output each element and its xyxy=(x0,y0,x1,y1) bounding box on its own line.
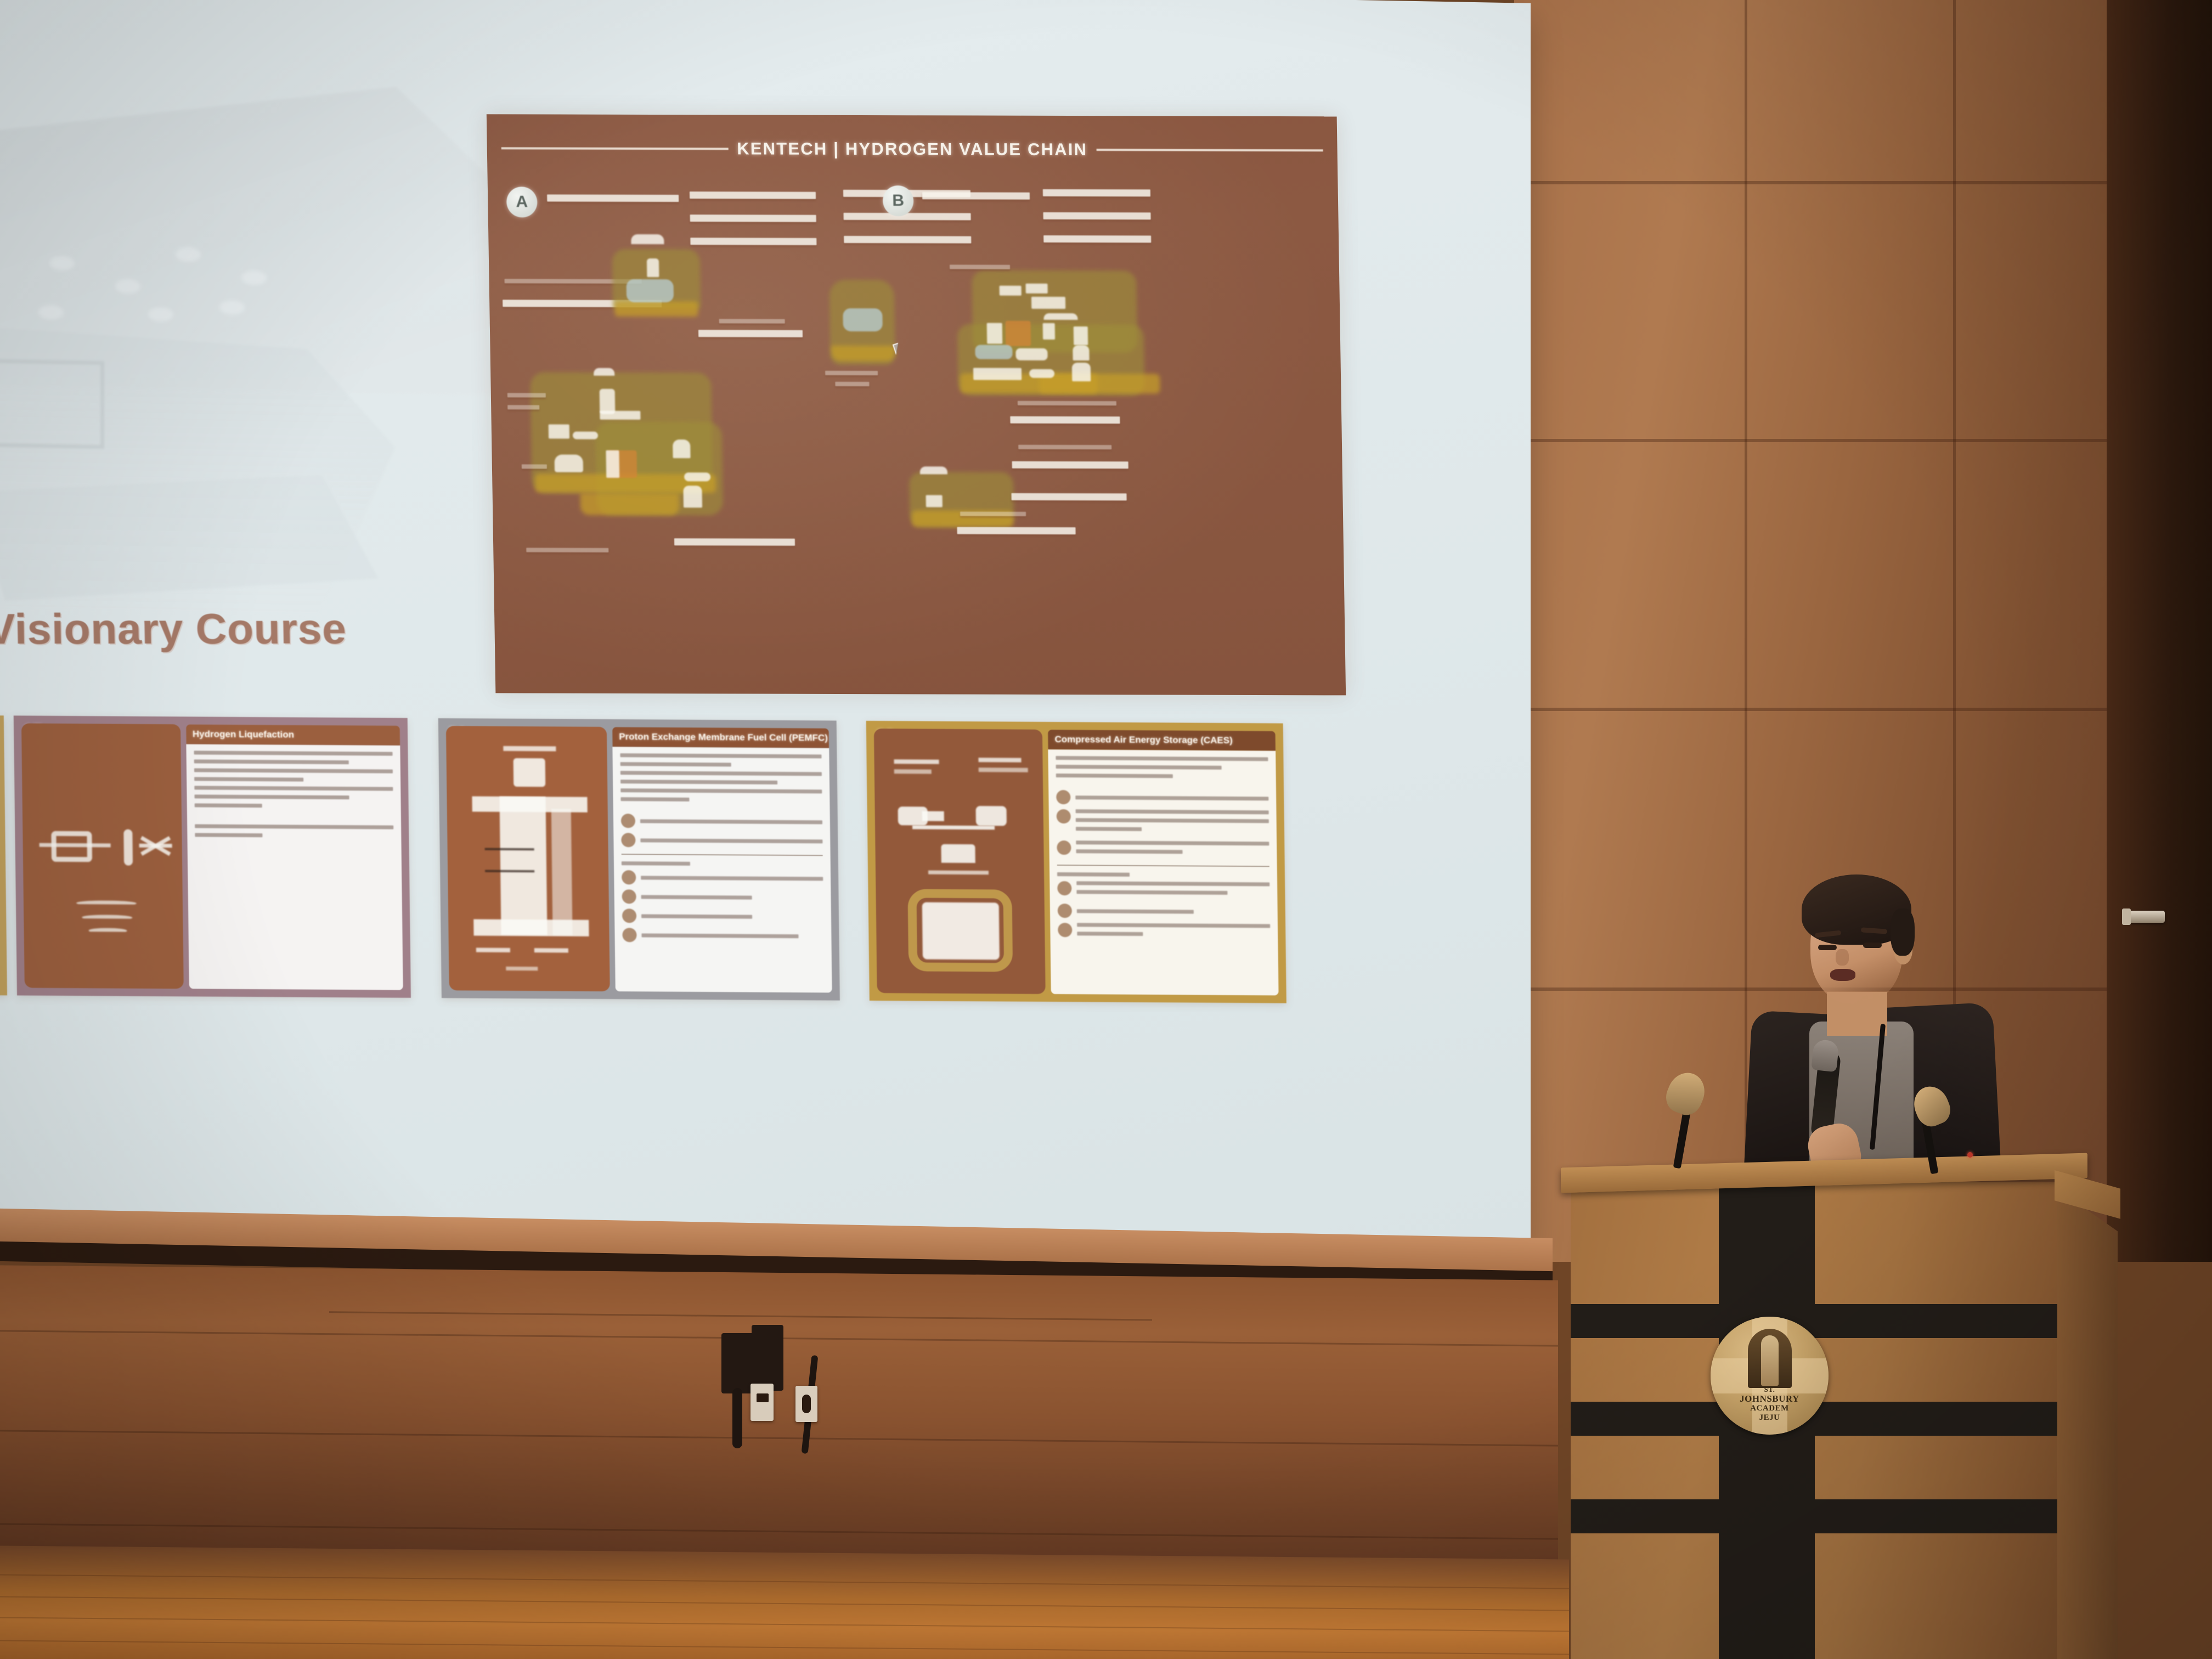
bullet-icon xyxy=(1058,904,1072,918)
mouth xyxy=(1830,969,1855,981)
stage-floor xyxy=(0,1546,1569,1659)
seal-line-3: ACADEM xyxy=(1740,1404,1799,1413)
bullet-icon xyxy=(1057,790,1071,804)
podium-body: ST. JOHNSBURY ACADEM JEJU xyxy=(1571,1182,2067,1659)
slide-text-line xyxy=(950,264,1010,269)
slide-text-line xyxy=(526,548,608,552)
bullet-icon xyxy=(621,814,635,828)
diagram-chip xyxy=(973,368,1022,380)
label-icon xyxy=(476,948,510,952)
fuel-cell-icon xyxy=(513,758,546,787)
diagram-chip xyxy=(673,439,691,458)
diagram-chip xyxy=(683,486,702,507)
slide-thumbnail[interactable]: 21 Proton Exchange Membrane Fuel Cell (P… xyxy=(438,718,840,1001)
diagram-chip xyxy=(573,432,598,439)
diagram-chip xyxy=(920,466,947,474)
diagram-chip xyxy=(600,411,640,420)
diagram-chip xyxy=(1025,284,1047,294)
slide-text-line xyxy=(844,213,971,221)
diagram-shape xyxy=(580,493,680,515)
thumbnail-visual xyxy=(446,726,610,991)
eye xyxy=(1818,945,1837,950)
gauge-needle-icon xyxy=(39,843,111,848)
podium: ST. JOHNSBURY ACADEM JEJU xyxy=(1561,1160,2112,1659)
outlet-slot xyxy=(757,1393,769,1402)
label-icon xyxy=(979,768,1028,772)
thumbnail-text xyxy=(1048,749,1279,996)
thumbnail-header: Proton Exchange Membrane Fuel Cell (PEMF… xyxy=(612,727,829,748)
bullet-icon xyxy=(622,889,636,904)
slide-thumbnail[interactable] xyxy=(0,715,7,996)
storage-icon xyxy=(941,844,975,863)
slide-text-line xyxy=(1018,401,1116,405)
snowflake-icon xyxy=(139,830,172,862)
slide-text-line xyxy=(1043,212,1150,220)
door-handle-icon[interactable] xyxy=(2129,911,2165,923)
diagram-shape xyxy=(831,346,895,361)
diagram-chip xyxy=(1006,321,1031,346)
thumbnail-visual xyxy=(874,729,1046,994)
slide-text-line xyxy=(1018,445,1111,449)
label-icon xyxy=(978,758,1021,762)
wave-icon xyxy=(76,900,137,906)
diagram-chip xyxy=(843,308,883,331)
diagram-chip xyxy=(631,234,664,244)
thumbnail-text xyxy=(612,747,832,992)
caption-icon xyxy=(506,967,538,970)
slide-title-row: KENTECH | HYDROGEN VALUE CHAIN xyxy=(487,138,1338,160)
seal-line-2: JOHNSBURY xyxy=(1740,1393,1799,1404)
diagram-chip xyxy=(1015,348,1047,360)
diagram-chip xyxy=(626,279,674,302)
auditorium-scene: KENTECH | HYDROGEN VALUE CHAIN A B xyxy=(0,0,2212,1659)
thumbnail-header: Compressed Air Energy Storage (CAES) xyxy=(1048,730,1276,751)
power-adapter xyxy=(721,1333,754,1393)
label-icon xyxy=(534,948,568,952)
slide-title: KENTECH | HYDROGEN VALUE CHAIN xyxy=(737,139,1088,160)
diagram-chip xyxy=(1072,363,1091,381)
wall-outlet[interactable] xyxy=(751,1384,774,1421)
seal-line-1: ST. xyxy=(1740,1386,1799,1394)
section-a-badge: A xyxy=(506,187,538,217)
outlet-slot xyxy=(802,1395,811,1413)
bullet-icon xyxy=(1058,923,1073,937)
slide-text-line xyxy=(547,195,679,202)
thermometer-icon xyxy=(123,830,133,866)
slide-text-line xyxy=(507,393,546,397)
door-panel xyxy=(2107,0,2212,1262)
slide-text-line xyxy=(522,464,547,469)
slide-text-line xyxy=(835,382,869,386)
speaker xyxy=(1745,867,2008,1174)
cell-membrane xyxy=(499,797,547,935)
bullet-icon xyxy=(622,870,636,884)
eye xyxy=(1863,943,1882,948)
podium-seal: ST. JOHNSBURY ACADEM JEJU xyxy=(1711,1317,1829,1435)
diagram-chip xyxy=(1074,326,1088,345)
wave-icon xyxy=(82,915,132,921)
slide-text-line xyxy=(690,238,816,245)
slide-text-line xyxy=(1010,416,1120,424)
slide-text-line xyxy=(690,215,816,222)
power-cable xyxy=(732,1388,742,1448)
diagram-chip xyxy=(1043,323,1055,340)
diagram-shape xyxy=(1039,374,1160,394)
slide-text-line xyxy=(1012,461,1128,469)
diagram-chip xyxy=(1043,313,1077,320)
diagram-chip xyxy=(606,450,619,478)
diagram-chip xyxy=(926,495,943,507)
slide-text-line xyxy=(698,330,803,337)
bullet-icon xyxy=(1057,840,1071,855)
slide-thumbnail-strip: 17 Hydrogen Liquefaction xyxy=(0,715,1357,1020)
slide-text-line xyxy=(1011,493,1126,501)
nose xyxy=(1836,949,1849,966)
cavern-icon xyxy=(922,902,1000,960)
diagram-chip xyxy=(647,258,659,277)
microphone-head-icon xyxy=(1811,1039,1839,1073)
label-icon xyxy=(894,759,939,764)
thumbnail-visual xyxy=(21,723,184,989)
main-slide[interactable]: KENTECH | HYDROGEN VALUE CHAIN A B xyxy=(487,114,1346,695)
slide-text-line xyxy=(825,371,878,375)
slide-text-line xyxy=(719,319,785,323)
title-rule-left xyxy=(501,147,729,150)
thumbnail-text xyxy=(186,744,403,990)
stage-front-wall xyxy=(0,1265,1558,1587)
slide-text-line xyxy=(960,512,1026,516)
cell-label-icon xyxy=(503,746,556,752)
diagram-chip xyxy=(684,472,710,481)
diagram-chip xyxy=(1031,297,1065,309)
diagram-chip xyxy=(1029,369,1054,378)
projection-screen: KENTECH | HYDROGEN VALUE CHAIN A B xyxy=(0,0,1531,1243)
caption-icon xyxy=(928,871,989,875)
flow-arrow-icon xyxy=(485,848,534,851)
diagram-chip xyxy=(549,425,569,439)
bullet-icon xyxy=(623,928,637,942)
pipe-icon xyxy=(912,825,995,830)
bullet-icon xyxy=(622,909,636,923)
seal-line-4: JEJU xyxy=(1740,1413,1799,1423)
podium-side xyxy=(2057,1189,2118,1659)
slide-text-line xyxy=(674,538,795,546)
diagram-chip xyxy=(1073,345,1089,360)
label-icon xyxy=(894,769,932,774)
section-b-badge: B xyxy=(883,185,914,216)
slide-thumbnail[interactable]: 29 Compressed Air Energy Storag xyxy=(866,721,1286,1003)
bullet-icon xyxy=(621,833,635,847)
wave-icon xyxy=(88,928,127,933)
diagram-chip xyxy=(987,323,1003,344)
bullet-icon xyxy=(1058,881,1072,895)
diagram-chip xyxy=(975,345,1012,359)
slide-text-line xyxy=(1043,235,1151,243)
diagram-chip xyxy=(594,368,614,376)
bullet-icon xyxy=(1057,809,1071,823)
slide-text-line xyxy=(957,527,1075,535)
thumbnail-header: Hydrogen Liquefaction xyxy=(186,724,400,745)
slide-text-line xyxy=(844,236,971,244)
slide-text-line xyxy=(690,191,816,199)
course-title: gy Visionary Course xyxy=(0,604,450,654)
cell-electrode xyxy=(551,809,573,935)
diagram-chip xyxy=(1000,286,1022,296)
slide-thumbnail[interactable]: 17 Hydrogen Liquefaction xyxy=(14,715,411,997)
mic-status-led xyxy=(1967,1152,1973,1158)
title-rule-right xyxy=(1096,149,1323,151)
flow-arrow-icon xyxy=(485,870,534,873)
turbine-icon xyxy=(976,806,1007,826)
power-adapter xyxy=(752,1325,783,1391)
slide-text-line xyxy=(1043,189,1150,197)
slide-text-line xyxy=(922,192,1030,200)
slide-text-line xyxy=(507,405,539,409)
shaft-icon xyxy=(922,811,944,821)
diagram-shape xyxy=(614,301,698,317)
diagram-chip xyxy=(555,455,583,472)
